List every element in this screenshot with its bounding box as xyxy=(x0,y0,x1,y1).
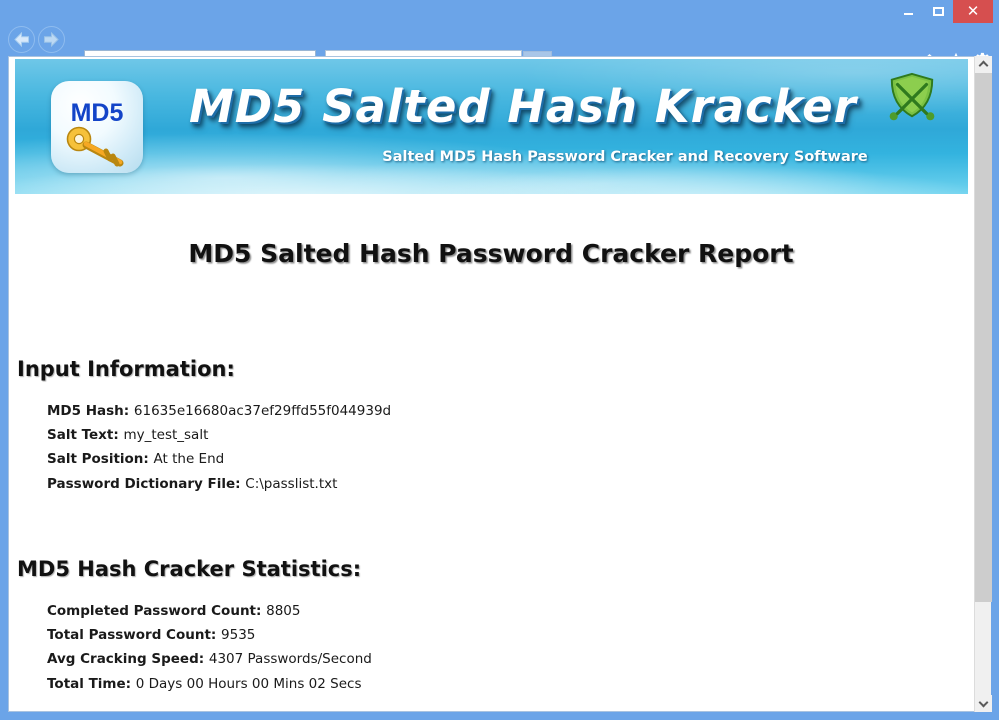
info-row: Salt Position: At the End xyxy=(47,447,957,471)
row-value: my_test_salt xyxy=(123,427,208,443)
page-title: MD5 Salted Hash Password Cracker Report xyxy=(9,239,973,268)
scroll-down-button[interactable] xyxy=(975,695,992,712)
shield-swords-icon xyxy=(886,71,938,123)
row-value: 61635e16680ac37ef29ffd55f044939d xyxy=(134,403,391,419)
scroll-up-button[interactable] xyxy=(975,56,992,73)
banner-title: MD5 Salted Hash Kracker xyxy=(190,81,890,134)
info-row: Avg Cracking Speed: 4307 Passwords/Secon… xyxy=(47,647,957,671)
browser-window: ✕ C:\Users\Administrator\Desktc xyxy=(0,0,999,720)
vertical-scrollbar[interactable] xyxy=(974,56,991,712)
back-button[interactable] xyxy=(8,26,35,53)
row-label: Password Dictionary File: xyxy=(47,476,245,492)
info-row: Total Password Count: 9535 xyxy=(47,623,957,647)
app-logo-icon: MD5 xyxy=(51,81,143,173)
maximize-button[interactable] xyxy=(923,0,953,22)
info-row: Total Time: 0 Days 00 Hours 00 Mins 02 S… xyxy=(47,672,957,696)
row-value: 8805 xyxy=(266,603,300,619)
navigation-bar: C:\Users\Administrator\Desktc ▾ xyxy=(0,24,999,56)
row-value: C:\passlist.txt xyxy=(245,476,337,492)
chevron-down-icon xyxy=(979,698,989,708)
close-icon: ✕ xyxy=(967,4,980,19)
row-label: Salt Text: xyxy=(47,427,123,443)
row-label: Salt Position: xyxy=(47,451,154,467)
minimize-button[interactable] xyxy=(893,0,923,22)
row-label: Total Time: xyxy=(47,676,136,692)
close-window-button[interactable]: ✕ xyxy=(953,0,993,23)
key-icon xyxy=(64,125,130,169)
info-row: MD5 Hash: 61635e16680ac37ef29ffd55f04493… xyxy=(47,399,957,423)
arrow-right-icon xyxy=(43,32,60,47)
input-information-section: Input Information: MD5 Hash: 61635e16680… xyxy=(17,357,957,496)
statistics-section: MD5 Hash Cracker Statistics: Completed P… xyxy=(17,557,957,696)
report-document: MD5 MD5 Salted Hash Kracker Salted MD5 H… xyxy=(9,57,973,712)
maximize-icon xyxy=(933,7,944,16)
section-heading: Input Information: xyxy=(17,357,957,381)
row-label: Total Password Count: xyxy=(47,627,221,643)
forward-button[interactable] xyxy=(38,26,65,53)
row-value: 0 Days 00 Hours 00 Mins 02 Secs xyxy=(136,676,362,692)
title-bar: ✕ xyxy=(0,0,999,24)
app-banner: MD5 MD5 Salted Hash Kracker Salted MD5 H… xyxy=(15,59,968,194)
arrow-left-icon xyxy=(13,32,30,47)
info-row: Completed Password Count: 8805 xyxy=(47,599,957,623)
scrollbar-thumb[interactable] xyxy=(975,73,992,602)
page-viewport: MD5 MD5 Salted Hash Kracker Salted MD5 H… xyxy=(8,56,991,712)
row-value: 4307 Passwords/Second xyxy=(209,651,372,667)
chevron-up-icon xyxy=(979,61,989,71)
row-label: Completed Password Count: xyxy=(47,603,266,619)
row-value: At the End xyxy=(154,451,225,467)
app-logo-text: MD5 xyxy=(51,99,143,128)
input-information-rows: MD5 Hash: 61635e16680ac37ef29ffd55f04493… xyxy=(17,399,957,496)
statistics-rows: Completed Password Count: 8805 Total Pas… xyxy=(17,599,957,696)
section-heading: MD5 Hash Cracker Statistics: xyxy=(17,557,957,581)
row-label: Avg Cracking Speed: xyxy=(47,651,209,667)
row-label: MD5 Hash: xyxy=(47,403,134,419)
banner-subtitle: Salted MD5 Hash Password Cracker and Rec… xyxy=(345,149,905,165)
row-value: 9535 xyxy=(221,627,255,643)
minimize-icon xyxy=(904,13,913,15)
info-row: Salt Text: my_test_salt xyxy=(47,423,957,447)
info-row: Password Dictionary File: C:\passlist.tx… xyxy=(47,472,957,496)
